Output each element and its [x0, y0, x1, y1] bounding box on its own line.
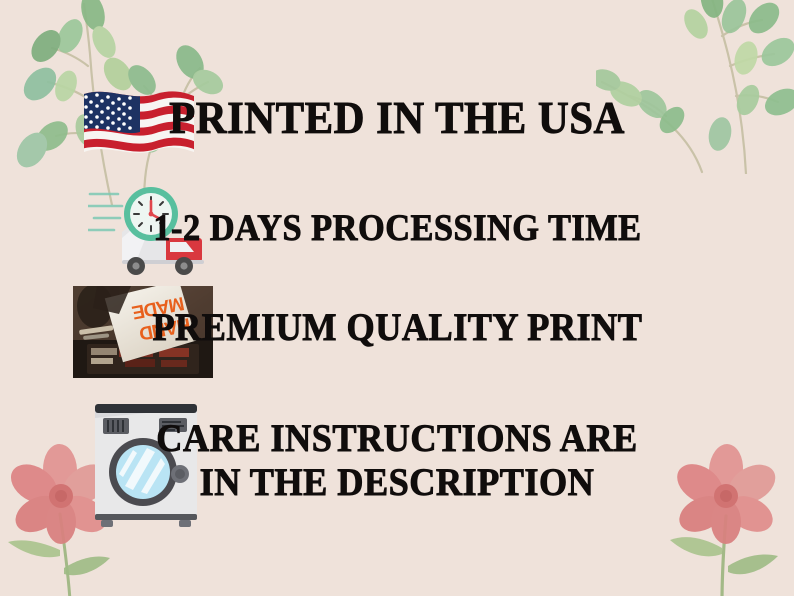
headline-care-instructions: CARE INSTRUCTIONS ARE IN THE DESCRIPTION [0, 417, 794, 504]
promo-graphic: PRINTED IN THE USA [0, 0, 794, 596]
headline-premium-quality-line1: PREMIUM QUALITY PRINT [152, 306, 642, 350]
headline-processing-time-line1: 1-2 DAYS PROCESSING TIME [153, 208, 641, 249]
headline-printed-in-usa-line1: PRINTED IN THE USA [169, 92, 625, 144]
headline-premium-quality: PREMIUM QUALITY PRINT [0, 306, 794, 350]
headline-processing-time: 1-2 DAYS PROCESSING TIME [0, 208, 794, 249]
headline-printed-in-usa: PRINTED IN THE USA [0, 92, 794, 144]
headline-care-instructions-line2: IN THE DESCRIPTION [28, 461, 766, 505]
headline-care-instructions-line1: CARE INSTRUCTIONS ARE [28, 417, 766, 461]
branch-top-right-decoration [596, 0, 794, 174]
